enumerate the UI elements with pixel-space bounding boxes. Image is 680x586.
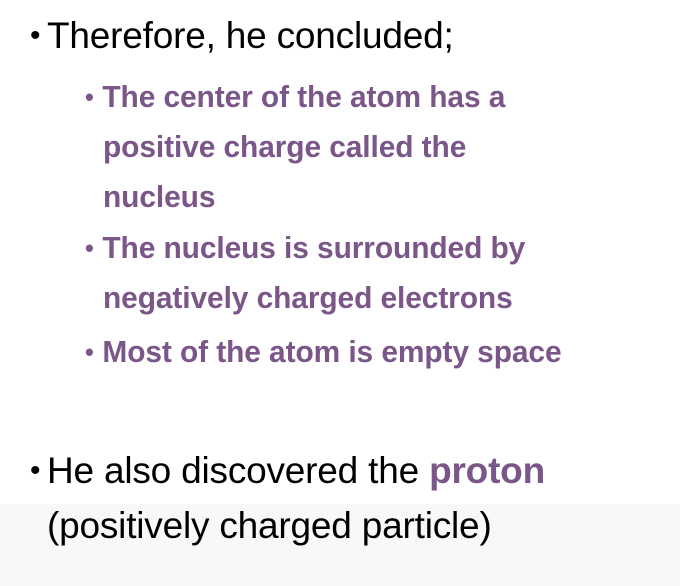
bullet-text-proton-prefix: He also discovered the xyxy=(47,450,429,491)
bullet-item-therefore: •Therefore, he concluded; xyxy=(30,12,676,60)
sub-bullet-text-line-1: The center of the atom has a xyxy=(102,79,505,114)
bullet-marker-icon: • xyxy=(30,447,47,495)
bullet-text-proton-parenthetical: (positively charged particle) xyxy=(47,505,492,546)
bullet-text-therefore: Therefore, he concluded; xyxy=(47,15,454,56)
sub-bullet-item-nucleus-positive: •The center of the atom has a xyxy=(85,72,655,122)
sub-bullet-text-line-3: nucleus xyxy=(103,179,215,214)
sub-bullet-marker-icon: • xyxy=(85,223,102,273)
sub-bullet-text-line-1: Most of the atom is empty space xyxy=(102,334,561,369)
sub-bullet-marker-icon: • xyxy=(85,72,102,122)
sub-bullet-text-line-1: The nucleus is surrounded by xyxy=(102,230,525,265)
bullet-marker-icon: • xyxy=(30,12,47,60)
sub-bullet-item-empty-space: •Most of the atom is empty space xyxy=(85,327,655,377)
sub-bullet-text-line-2: positive charge called the xyxy=(103,129,466,164)
emphasis-word-proton: proton xyxy=(429,450,545,491)
sub-bullet-continuation-1a: positive charge called the xyxy=(103,122,656,172)
sub-bullet-continuation-2a: negatively charged electrons xyxy=(103,273,656,323)
sub-bullet-text-line-2: negatively charged electrons xyxy=(103,280,513,315)
slide-canvas: •Therefore, he concluded; •The center of… xyxy=(0,0,680,586)
bullet-continuation-proton: (positively charged particle) xyxy=(47,502,676,550)
sub-bullet-continuation-1b: nucleus xyxy=(103,172,656,222)
sub-bullet-marker-icon: • xyxy=(85,327,102,377)
bullet-item-proton: •He also discovered the proton xyxy=(30,447,676,495)
sub-bullet-item-electrons: •The nucleus is surrounded by xyxy=(85,223,655,273)
